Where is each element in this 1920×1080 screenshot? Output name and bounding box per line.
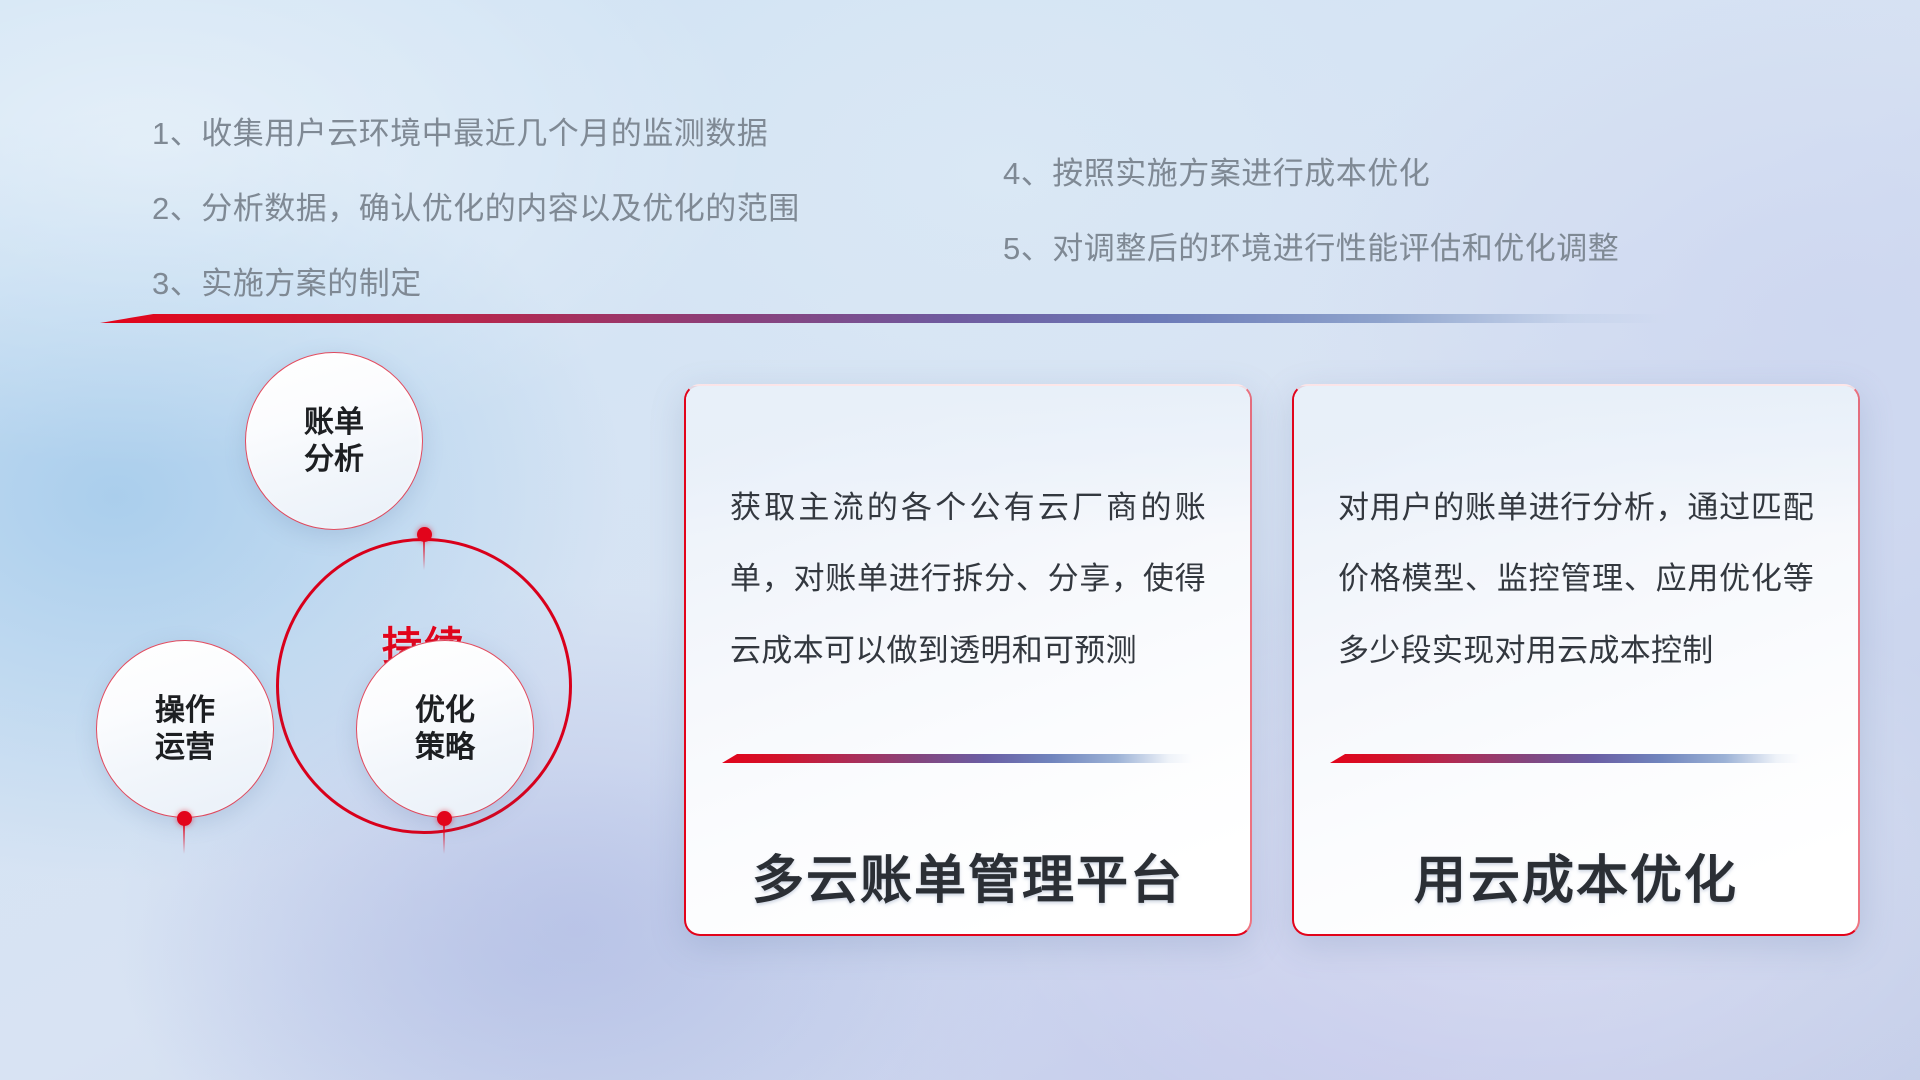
bubble-operations-line2: 运营 (155, 729, 215, 766)
continuous-operations-diagram: 持续 运营 账单 分析 操作 运营 优化 策略 (96, 352, 656, 952)
section-divider (100, 312, 1666, 326)
step-item-5: 5、对调整后的环境进行性能评估和优化调整 (1003, 233, 1619, 264)
section-divider-bar (100, 314, 1666, 323)
card-2-accent-rule (1330, 754, 1800, 765)
diagram-node-dot-right (437, 811, 452, 826)
diagram-bubble-optimization-strategy[interactable]: 优化 策略 (356, 640, 534, 818)
card-1-body-text: 获取主流的各个公有云厂商的账单，对账单进行拆分、分享，使得云成本可以做到透明和可… (730, 472, 1206, 686)
bubble-operations-line1: 操作 (155, 692, 215, 729)
card-multi-cloud-bill-platform[interactable]: 获取主流的各个公有云厂商的账单，对账单进行拆分、分享，使得云成本可以做到透明和可… (684, 384, 1252, 936)
bubble-bill-analysis-line2: 分析 (304, 441, 364, 478)
diagram-bubble-bill-analysis[interactable]: 账单 分析 (245, 352, 423, 530)
bubble-bill-analysis-line1: 账单 (304, 404, 364, 441)
bubble-optimization-strategy-line1: 优化 (415, 692, 475, 729)
card-1-accent-rule (722, 754, 1192, 765)
step-item-4: 4、按照实施方案进行成本优化 (1003, 158, 1619, 189)
slide-canvas: 1、收集用户云环境中最近几个月的监测数据 2、分析数据，确认优化的内容以及优化的… (0, 0, 1920, 1080)
card-2-body-text: 对用户的账单进行分析，通过匹配价格模型、监控管理、应用优化等多少段实现对用云成本… (1338, 472, 1814, 686)
steps-list-left: 1、收集用户云环境中最近几个月的监测数据 2、分析数据，确认优化的内容以及优化的… (152, 118, 800, 299)
steps-list-right: 4、按照实施方案进行成本优化 5、对调整后的环境进行性能评估和优化调整 (1003, 158, 1619, 264)
diagram-stem-right (443, 824, 445, 854)
card-cloud-cost-optimization[interactable]: 对用户的账单进行分析，通过匹配价格模型、监控管理、应用优化等多少段实现对用云成本… (1292, 384, 1860, 936)
bubble-optimization-strategy-line2: 策略 (415, 729, 475, 766)
diagram-node-dot-top (417, 527, 432, 542)
diagram-node-dot-left (177, 811, 192, 826)
step-item-3: 3、实施方案的制定 (152, 268, 800, 299)
step-item-1: 1、收集用户云环境中最近几个月的监测数据 (152, 118, 800, 149)
card-1-title: 多云账单管理平台 (686, 838, 1250, 913)
diagram-stem-left (183, 824, 185, 854)
diagram-bubble-operations[interactable]: 操作 运营 (96, 640, 274, 818)
diagram-stem-top (423, 540, 425, 570)
step-item-2: 2、分析数据，确认优化的内容以及优化的范围 (152, 193, 800, 224)
card-2-title: 用云成本优化 (1294, 838, 1858, 913)
